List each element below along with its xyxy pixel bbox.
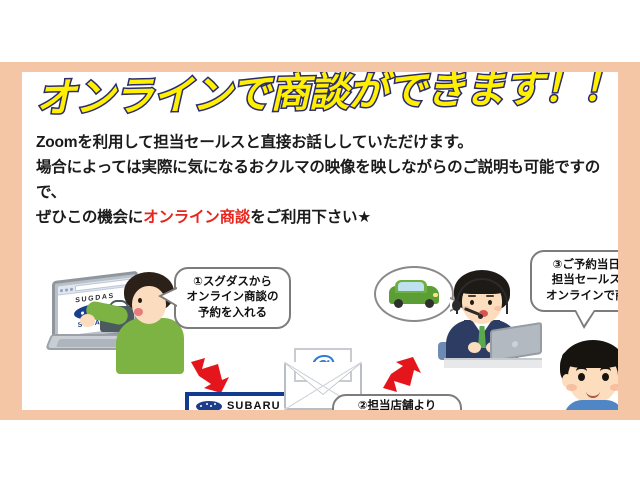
poster-inner-panel: オンラインで商談ができます！！ Zoomを利用して担当セールスと直接お話ししてい… bbox=[22, 72, 618, 410]
customer-eyebrow bbox=[600, 366, 611, 372]
customer-fringe bbox=[562, 346, 618, 368]
car-wheel bbox=[425, 299, 434, 308]
callout-step-1: ①スグダスから オンライン商談の 予約を入れる bbox=[174, 267, 291, 329]
subaru-logo-icon bbox=[196, 401, 222, 411]
intro-text: Zoomを利用して担当セールスと直接お話ししていただけます。 場合によっては実際… bbox=[36, 130, 606, 230]
browser-address-field bbox=[75, 279, 130, 292]
sales-rep-hand bbox=[468, 342, 481, 353]
customer-eye bbox=[578, 373, 585, 381]
intro-line-2: 場合によっては実際に気になるおクルマの映像を映しながらのご説明も可能ですので、 bbox=[36, 155, 606, 205]
browser-back-icon bbox=[60, 288, 63, 291]
browser-reload-icon bbox=[70, 287, 73, 290]
page-title: オンラインで商談ができます！！ bbox=[36, 72, 617, 120]
intro-line-3: ぜひこの機会にオンライン商談をご利用下さい★ bbox=[36, 205, 606, 230]
customer-shirt bbox=[564, 400, 618, 410]
callout-step-2-label: ②担当店舗より Zoomの招待URLが メールで届く。 スマホでもパソコン でも… bbox=[345, 399, 448, 410]
poster-frame: オンラインで商談ができます！！ Zoomを利用して担当セールスと直接お話ししてい… bbox=[0, 62, 640, 420]
intro-line-3-post: をご利用下さい★ bbox=[250, 209, 371, 226]
arrow-down-right-icon bbox=[188, 352, 232, 396]
sales-rep-desk bbox=[444, 358, 542, 368]
callout-tail-inner-icon bbox=[162, 289, 177, 305]
dealership-sign-label: SUBARU bbox=[227, 400, 281, 410]
arrow-up-right-icon bbox=[380, 354, 424, 398]
callout-step-2: ②担当店舗より Zoomの招待URLが メールで届く。 スマホでもパソコン でも… bbox=[332, 394, 462, 410]
car-wheel bbox=[394, 299, 403, 308]
headset-mic-tip-icon bbox=[478, 314, 483, 319]
intro-line-1: Zoomを利用して担当セールスと直接お話ししていただけます。 bbox=[36, 130, 606, 155]
callout-step-1-label: ①スグダスから オンライン商談の 予約を入れる bbox=[187, 275, 279, 321]
car-window bbox=[398, 282, 424, 291]
person-torso bbox=[116, 318, 184, 374]
illustration-customer-video-call bbox=[550, 340, 618, 410]
customer-eyebrow bbox=[576, 366, 587, 372]
sales-rep-laptop bbox=[490, 322, 542, 362]
customer-cheek bbox=[566, 384, 577, 391]
customer-cheek bbox=[610, 384, 618, 391]
intro-line-3-pre: ぜひこの機会に bbox=[36, 209, 143, 226]
green-car-icon bbox=[389, 280, 439, 308]
illustration-sales-rep bbox=[434, 270, 544, 366]
callout-step-3: ③ご予約当日に 担当セールスと オンラインで商談 bbox=[530, 250, 618, 312]
person-hand bbox=[80, 314, 95, 327]
customer-eye bbox=[602, 373, 609, 381]
intro-line-3-highlight: オンライン商談 bbox=[143, 209, 250, 226]
headset-earpad-icon bbox=[452, 300, 461, 311]
callout-tail-inner-icon bbox=[576, 310, 594, 325]
person-mouth bbox=[134, 308, 143, 316]
person-eye bbox=[138, 298, 142, 303]
callout-step-3-label: ③ご予約当日に 担当セールスと オンラインで商談 bbox=[546, 258, 618, 304]
illustration-customer-on-laptop: SUGDAS SUBARU bbox=[48, 268, 188, 374]
browser-forward-icon bbox=[65, 288, 68, 291]
